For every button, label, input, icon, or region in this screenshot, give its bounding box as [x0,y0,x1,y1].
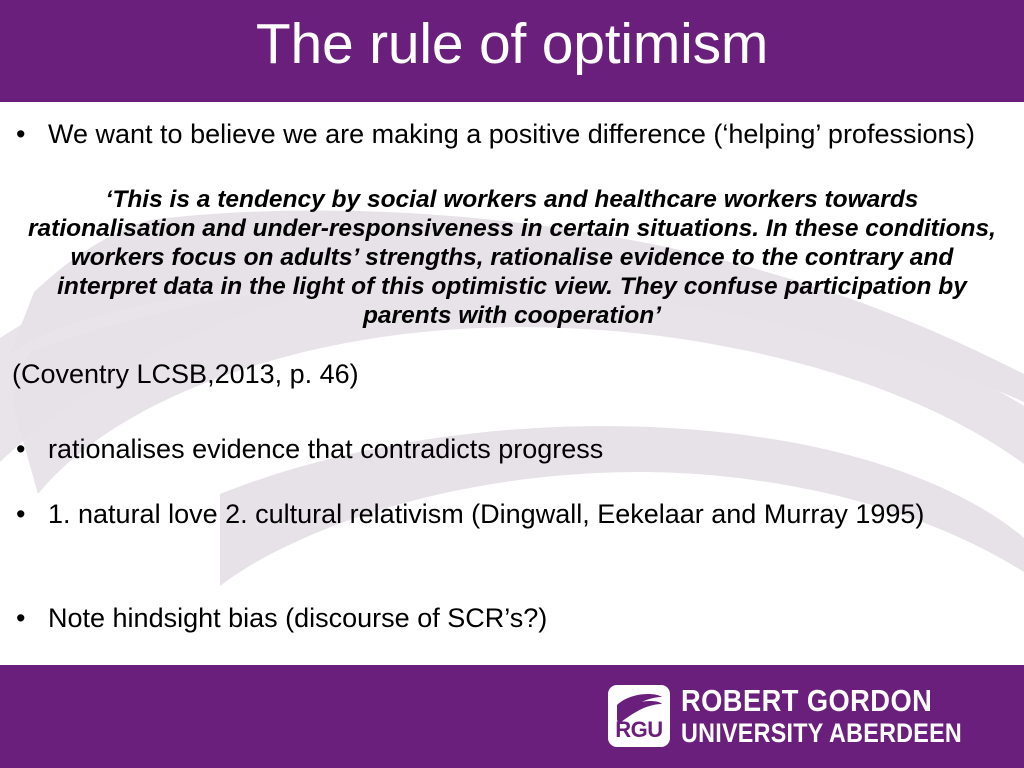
pull-quote: ‘This is a tendency by social workers an… [14,186,1010,331]
rgu-logo-line-1: ROBERT GORDON [681,685,962,716]
bullet-item: • rationalises evidence that contradicts… [8,433,1018,467]
footer-bar: RGU ROBERT GORDON UNIVERSITY ABERDEEN [0,665,1024,768]
bullet-point-icon: • [8,433,48,467]
slide-body: • We want to believe we are making a pos… [0,102,1024,665]
citation-text: (Coventry LCSB,2013, p. 46) [12,358,359,392]
pull-quote-line: interpret data in the light of this opti… [14,273,1010,302]
pull-quote-line: workers focus on adults’ strengths, rati… [14,244,1010,273]
pull-quote-line: ‘This is a tendency by social workers an… [14,186,1010,215]
bullet-item-text: We want to believe we are making a posit… [48,118,1018,152]
bullet-item: • We want to believe we are making a pos… [8,118,1018,152]
rgu-logo-line-2: UNIVERSITY ABERDEEN [681,720,962,747]
bullet-item-text: rationalises evidence that contradicts p… [48,433,1018,467]
bullet-item-text: 1. natural love 2. cultural relativism (… [48,498,1018,532]
rgu-logo-wordmark: ROBERT GORDON UNIVERSITY ABERDEEN [681,685,1000,747]
pull-quote-line: rationalisation and under-responsiveness… [14,215,1010,244]
mortarboard-swoosh-icon: RGU [608,685,670,747]
bullet-point-icon: • [8,498,48,532]
bullet-point-icon: • [8,602,48,636]
page-title: The rule of optimism [0,12,1024,78]
bullet-item-text: Note hindsight bias (discourse of SCR’s?… [48,602,1018,636]
slide: The rule of optimism • We want to believ… [0,0,1024,768]
rgu-logo-mark: RGU [608,685,670,747]
title-bar: The rule of optimism [0,0,1024,102]
bullet-item: • 1. natural love 2. cultural relativism… [8,498,1018,532]
rgu-logo-mark-text: RGU [615,717,662,742]
rgu-logo: RGU ROBERT GORDON UNIVERSITY ABERDEEN [608,685,1000,747]
bullet-point-icon: • [8,118,48,152]
pull-quote-line: parents with cooperation’ [14,302,1010,331]
bullet-item: • Note hindsight bias (discourse of SCR’… [8,602,1018,636]
